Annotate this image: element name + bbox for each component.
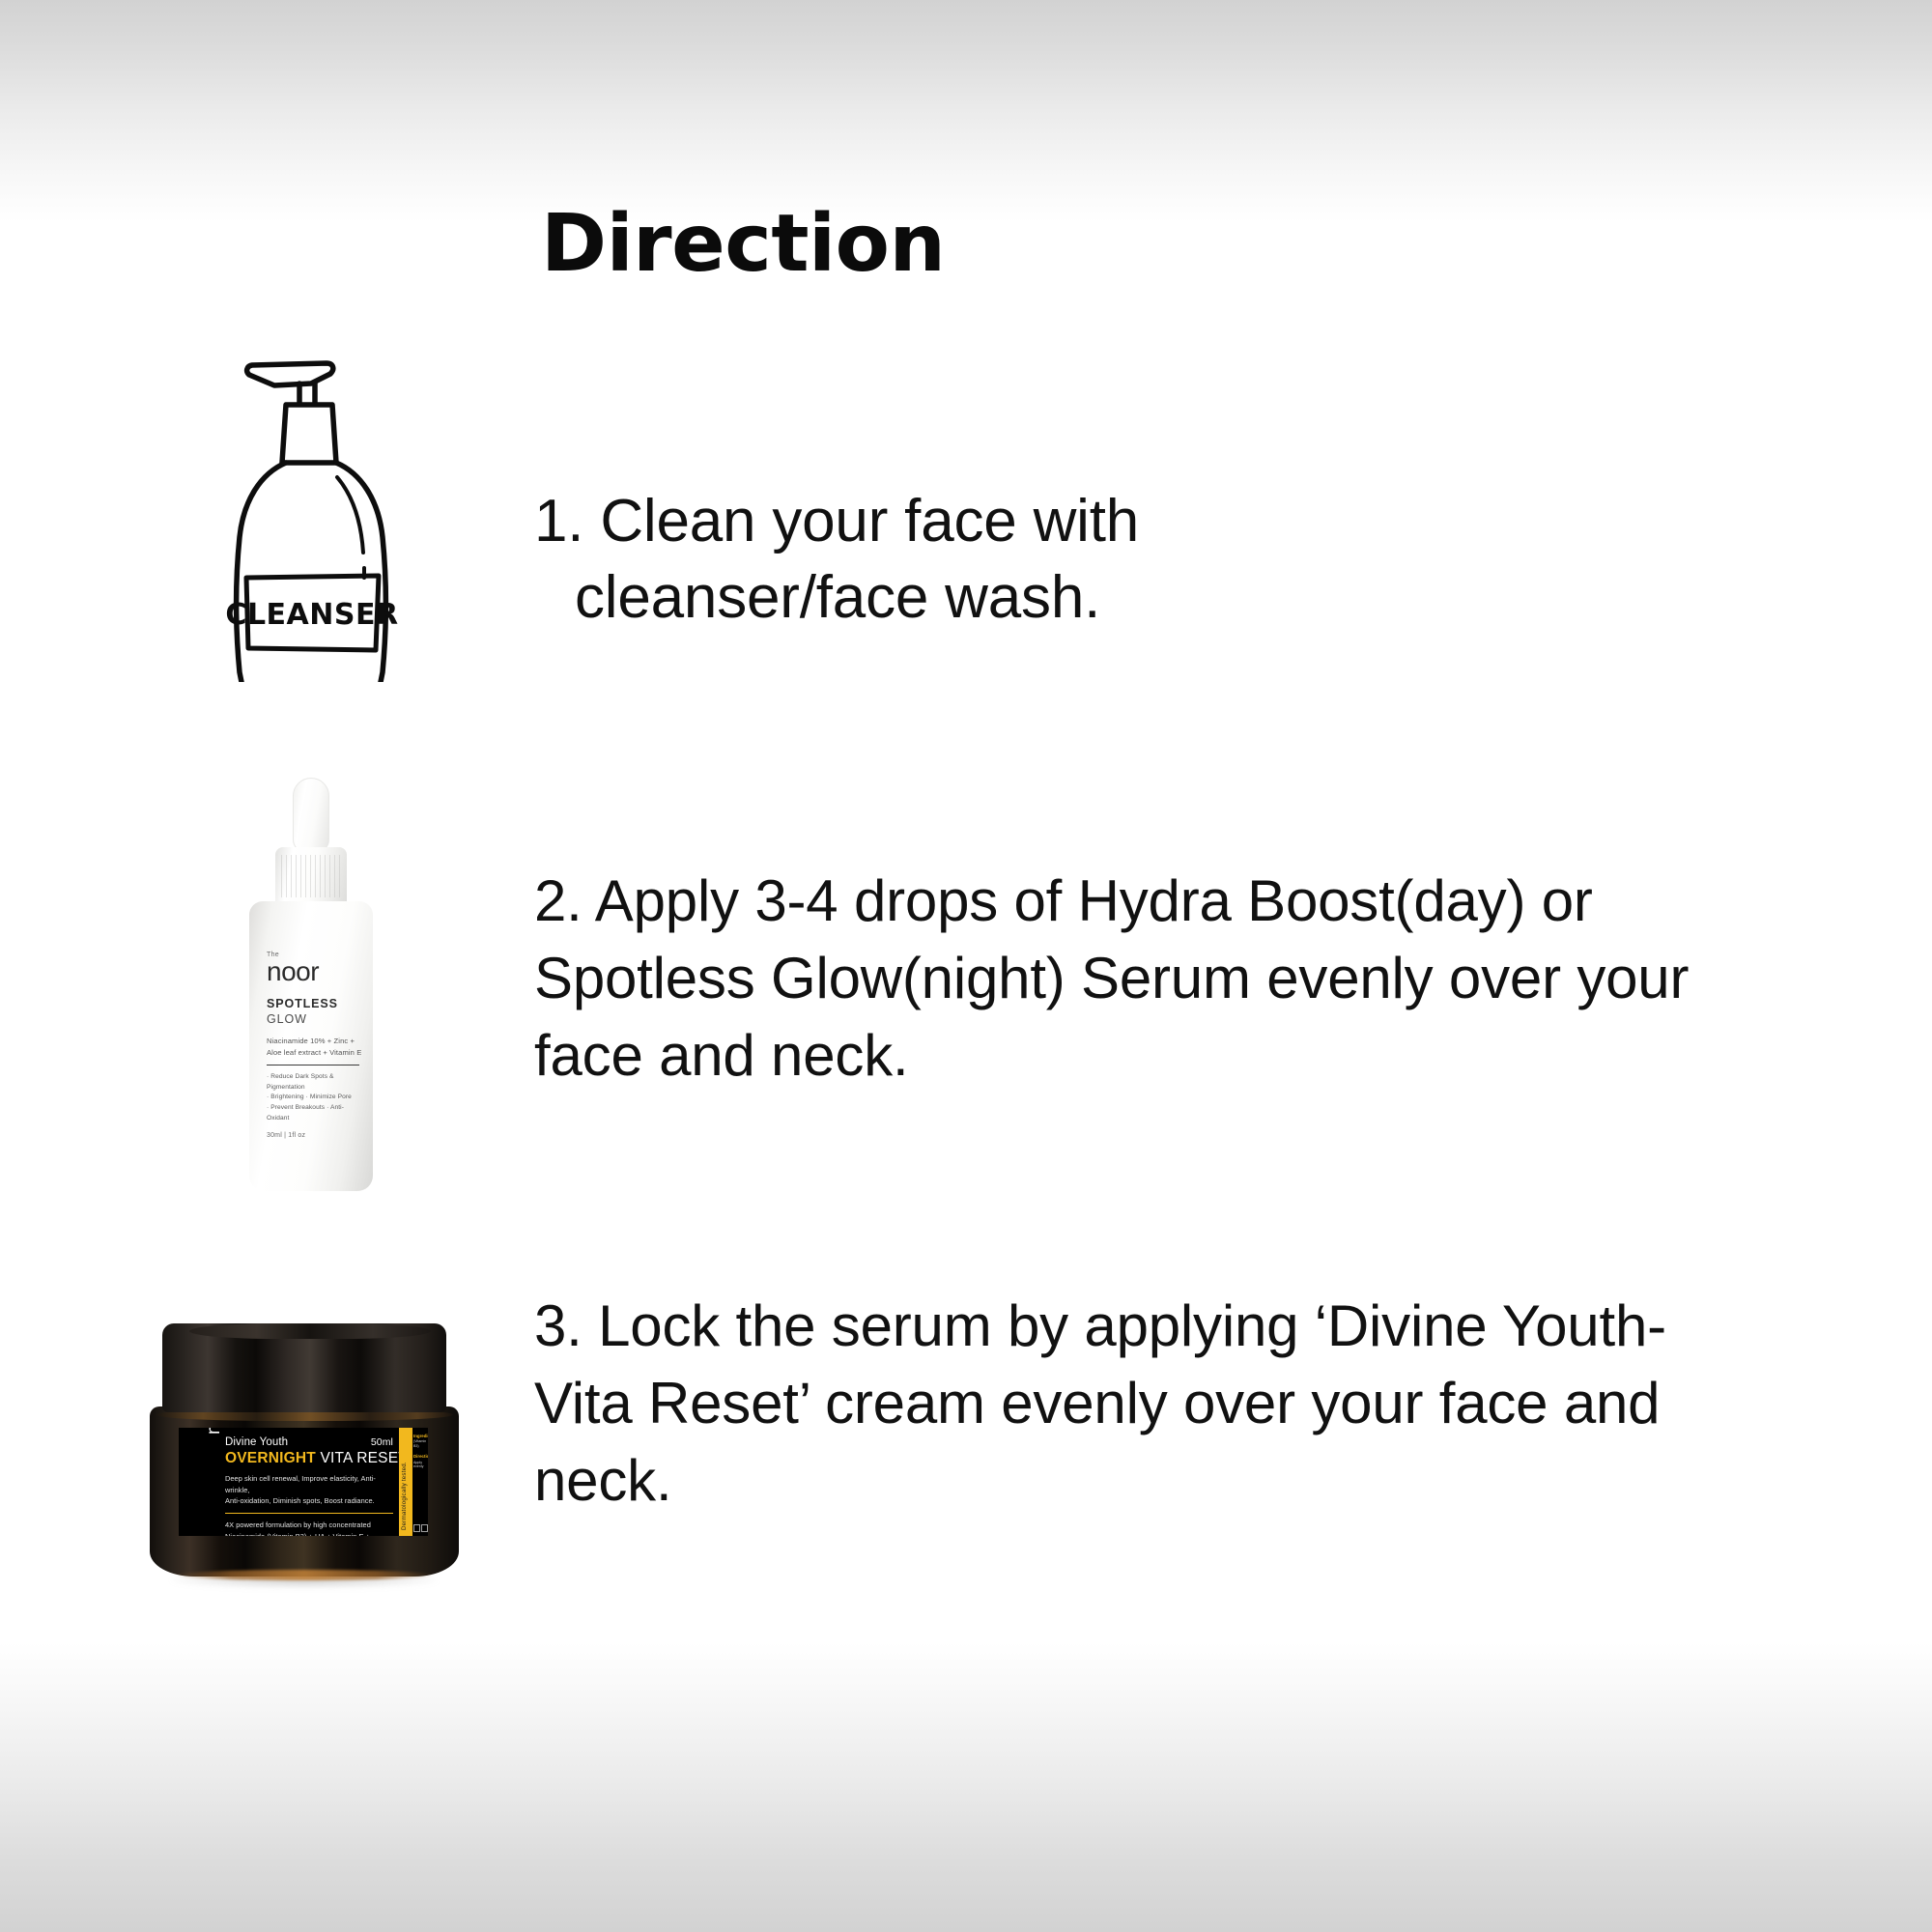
step-1-text: 1. Clean your face with cleanser/face wa…: [534, 483, 1309, 637]
cleanser-bottle-illustration: CLEANSER: [214, 354, 466, 682]
step-3-text: 3. Lock the serum by applying ‘Divine Yo…: [534, 1288, 1742, 1519]
serum-label: The noor SPOTLESS GLOW Niacinamide 10% +…: [267, 952, 363, 1139]
serum-benefits: · Reduce Dark Spots & Pigmentation · Bri…: [267, 1072, 363, 1123]
serum-benefit-3: · Prevent Breakouts · Anti-Oxidant: [267, 1103, 363, 1123]
dropper-collar: [275, 847, 347, 907]
overnight-vita-reset-jar-photo: noor The Divine Youth 50ml OVERNIGHT VIT…: [150, 1323, 459, 1584]
jar-directions-heading: Directions: [413, 1454, 428, 1459]
cleanser-label-text: CLEANSER: [225, 598, 398, 632]
serum-name-line1: SPOTLESS: [267, 997, 363, 1010]
jar-lid: [162, 1323, 446, 1412]
jar-brand-name: noor: [205, 1428, 223, 1435]
jar-dermatologically-tested-claim: Dermatologically tested.: [401, 1434, 408, 1530]
pao-icon: [413, 1524, 420, 1532]
dropper-bulb: [293, 778, 329, 853]
jar-accent-stripe: Dermatologically tested.: [399, 1428, 412, 1536]
serum-ingredients-line1: Niacinamide 10% + Zinc +: [267, 1036, 363, 1046]
jar-description: Deep skin cell renewal, Improve elastici…: [225, 1473, 393, 1507]
jar-label: noor The Divine Youth 50ml OVERNIGHT VIT…: [179, 1428, 428, 1536]
jar-ingredients-heading: Ingredients: [413, 1434, 428, 1438]
jar-size: 50ml: [371, 1436, 393, 1448]
serum-benefit-2: · Brightening · Minimize Pore: [267, 1093, 363, 1103]
jar-formula-line1: 4X powered formulation by high concentra…: [225, 1520, 393, 1531]
background-gradient-bottom: [0, 1642, 1932, 1932]
jar-directions-text: Apply evenly: [413, 1461, 428, 1469]
spotless-glow-serum-photo: The noor SPOTLESS GLOW Niacinamide 10% +…: [240, 778, 383, 1193]
serum-bottle-body: The noor SPOTLESS GLOW Niacinamide 10% +…: [249, 901, 373, 1191]
jar-title: OVERNIGHT VITA RESET: [225, 1450, 393, 1467]
jar-title-highlight: OVERNIGHT: [225, 1450, 316, 1466]
jar-formula: 4X powered formulation by high concentra…: [225, 1520, 393, 1536]
jar-ingredients-text: (Vitamin B3): [413, 1439, 428, 1448]
serum-divider: [267, 1065, 359, 1065]
serum-name-line2: GLOW: [267, 1012, 363, 1026]
jar-brand-block: noor The: [205, 1428, 228, 1435]
jar-side-panel: Ingredients (Vitamin B3) Directions Appl…: [412, 1428, 428, 1536]
jar-base-shine: [175, 1570, 434, 1580]
recycle-icon: [421, 1524, 428, 1532]
serum-volume: 30ml | 1fl oz: [267, 1132, 363, 1139]
serum-brand-name: noor: [267, 959, 363, 983]
jar-range: Divine Youth: [225, 1436, 288, 1448]
jar-title-rest: VITA RESET: [320, 1450, 407, 1466]
jar-description-line1: Deep skin cell renewal, Improve elastici…: [225, 1473, 393, 1495]
jar-care-symbols: [413, 1524, 428, 1532]
page-title: Direction: [541, 205, 945, 284]
jar-lid-top: [189, 1323, 431, 1339]
serum-ingredients: Niacinamide 10% + Zinc + Aloe leaf extra…: [267, 1036, 363, 1058]
serum-benefit-1: · Reduce Dark Spots & Pigmentation: [267, 1072, 363, 1093]
serum-ingredients-line2: Aloe leaf extract + Vitamin E: [267, 1047, 363, 1058]
jar-range-row: Divine Youth 50ml: [225, 1436, 393, 1448]
jar-label-main: Divine Youth 50ml OVERNIGHT VITA RESET D…: [225, 1436, 393, 1536]
direction-infographic: Direction CLEANSER 1. Clean you: [0, 0, 1932, 1932]
background-gradient-top: [0, 0, 1932, 222]
step-2-text: 2. Apply 3-4 drops of Hydra Boost(day) o…: [534, 863, 1751, 1094]
jar-formula-line2: Niacinamide (Vitamin B3) + HA + Vitamin …: [225, 1531, 393, 1536]
jar-description-line2: Anti-oxidation, Diminish spots, Boost ra…: [225, 1495, 393, 1507]
jar-divider: [225, 1513, 393, 1514]
